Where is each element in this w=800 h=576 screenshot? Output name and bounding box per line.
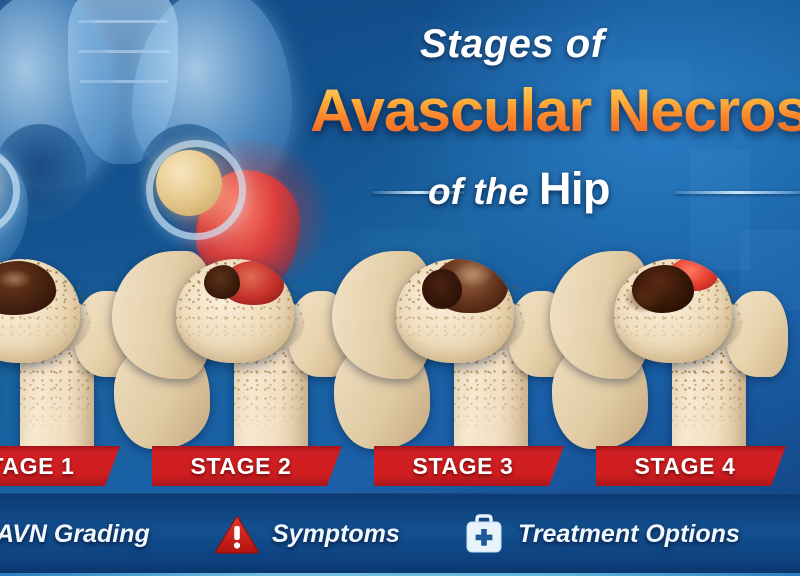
avn-hip-infographic: Stages of Avascular Necrosis of the Hip bbox=[0, 0, 800, 576]
stage-banner-3[interactable]: STAGE 3 bbox=[374, 446, 564, 486]
title-block: Stages of Avascular Necrosis of the Hip bbox=[300, 8, 800, 223]
medical-kit-icon bbox=[462, 513, 506, 555]
femoral-head-right bbox=[156, 150, 222, 216]
nav-item-symptoms[interactable]: Symptoms bbox=[214, 508, 400, 560]
nav-label-treatment-options: Treatment Options bbox=[518, 520, 740, 549]
stage-banner-row: STAGE 1 STAGE 2 STAGE 3 STAGE 4 bbox=[0, 446, 800, 488]
bottom-nav-bar: AVN Grading Symptoms Treatment bbox=[0, 493, 800, 576]
title-line-stages-of: Stages of bbox=[420, 22, 605, 67]
necrotic-lesion-stage-2 bbox=[204, 259, 288, 313]
femur-stage-4 bbox=[586, 255, 796, 455]
femur-stage-3 bbox=[368, 255, 578, 455]
nav-item-treatment-options[interactable]: Treatment Options bbox=[462, 508, 740, 560]
title-line-avascular-necrosis: Avascular Necrosis bbox=[310, 76, 800, 145]
pelvis-xray bbox=[0, 0, 350, 274]
title-of-the: of the bbox=[428, 171, 529, 212]
necrotic-lesion-stage-1 bbox=[0, 261, 56, 317]
stage-banner-1[interactable]: STAGE 1 bbox=[0, 446, 120, 486]
femoral-head bbox=[396, 259, 514, 363]
title-line-of-the-hip: of the Hip bbox=[428, 163, 610, 215]
necrotic-lesion-stage-4 bbox=[624, 259, 728, 327]
title-divider-right bbox=[674, 191, 800, 194]
nav-label-avn-grading: AVN Grading bbox=[0, 520, 150, 549]
stage-banner-label: STAGE 3 bbox=[413, 453, 514, 480]
necrotic-lesion-stage-3 bbox=[420, 259, 512, 319]
nav-item-avn-grading[interactable]: AVN Grading bbox=[0, 508, 150, 560]
femoral-head bbox=[176, 259, 294, 363]
stage-banner-label: STAGE 2 bbox=[191, 453, 292, 480]
femoral-head bbox=[614, 259, 732, 363]
nav-label-symptoms: Symptoms bbox=[272, 520, 400, 549]
femur-stage-2 bbox=[148, 255, 358, 455]
stage-banner-label: STAGE 4 bbox=[635, 453, 736, 480]
warning-triangle-icon bbox=[214, 514, 260, 554]
femur-specimen-row bbox=[0, 255, 800, 455]
stage-banner-label: STAGE 1 bbox=[0, 453, 74, 480]
title-hip: Hip bbox=[539, 163, 610, 214]
stage-banner-2[interactable]: STAGE 2 bbox=[152, 446, 342, 486]
stage-banner-4[interactable]: STAGE 4 bbox=[596, 446, 786, 486]
